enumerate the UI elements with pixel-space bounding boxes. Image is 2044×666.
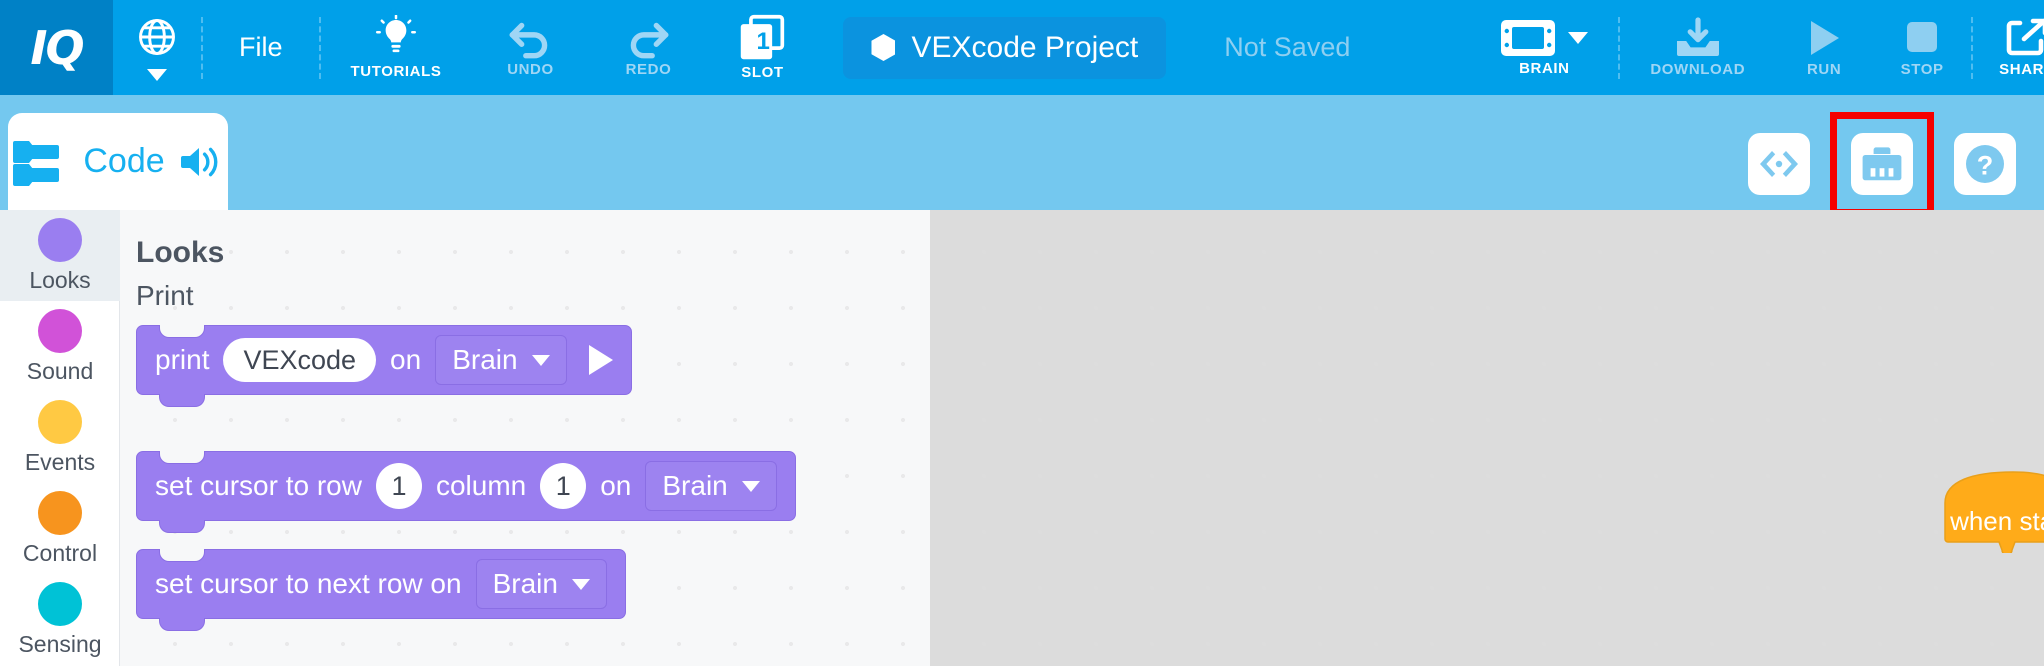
slot-button[interactable]: 1 SLOT [707, 0, 817, 95]
robot-config-button[interactable] [1851, 133, 1913, 195]
dropdown-value: Brain [493, 568, 558, 600]
sidebar-item-looks[interactable]: Looks [0, 210, 120, 301]
workspace-tool-buttons: ? [1748, 112, 2016, 216]
category-sidebar: Looks Sound Events Control Sensing [0, 210, 120, 666]
column-input[interactable]: 1 [540, 463, 586, 509]
speaker-icon[interactable] [179, 143, 223, 181]
stop-label: STOP [1901, 61, 1944, 78]
workspace-grid-background [930, 210, 2044, 666]
set-cursor-row-column-block[interactable]: set cursor to row 1 column 1 on Brain [136, 451, 796, 521]
slot-label: SLOT [741, 64, 783, 81]
redo-button[interactable]: REDO [589, 0, 707, 95]
chevron-down-icon [1568, 32, 1588, 44]
svg-text:?: ? [1977, 150, 1994, 180]
sidebar-item-label: Looks [29, 267, 90, 294]
code-workspace[interactable]: when started [930, 210, 2044, 666]
blocks-palette[interactable]: Looks Print print VEXcode on Brain set c… [121, 210, 921, 666]
print-message-input[interactable]: VEXcode [223, 338, 376, 382]
sidebar-item-control[interactable]: Control [0, 483, 120, 574]
lightbulb-icon [373, 15, 419, 61]
brain-device-icon [1500, 18, 1556, 58]
logo-text: IQ [30, 21, 82, 75]
download-label: DOWNLOAD [1650, 61, 1745, 78]
block-text: on [600, 470, 631, 502]
redo-arrow-icon [623, 17, 673, 59]
vex-iq-logo[interactable]: IQ [0, 0, 113, 95]
download-button[interactable]: DOWNLOAD [1620, 0, 1775, 95]
device-dropdown[interactable]: Brain [435, 335, 566, 385]
toolbox-icon [1862, 145, 1902, 183]
chevron-down-icon [147, 69, 167, 81]
brain-selector-button[interactable]: BRAIN [1470, 0, 1618, 95]
file-menu-label: File [239, 32, 283, 63]
svg-text:1: 1 [757, 28, 770, 55]
run-button[interactable]: RUN [1775, 0, 1873, 95]
download-icon [1673, 17, 1723, 59]
block-text: print [155, 344, 209, 376]
project-name-field[interactable]: VEXcode Project [843, 17, 1166, 79]
sidebar-item-label: Events [25, 449, 95, 476]
hexagon-icon [871, 34, 895, 61]
device-dropdown[interactable]: Brain [645, 461, 776, 511]
category-color-dot [38, 218, 82, 262]
tutorials-button[interactable]: TUTORIALS [321, 0, 472, 95]
category-color-dot [38, 582, 82, 626]
project-name-label: VEXcode Project [911, 31, 1138, 65]
redo-label: REDO [626, 61, 672, 78]
sidebar-item-sound[interactable]: Sound [0, 301, 120, 392]
when-started-label: when started [1950, 506, 2044, 537]
globe-icon [135, 15, 179, 59]
stop-button[interactable]: STOP [1873, 0, 1971, 95]
top-toolbar: IQ File [0, 0, 2044, 95]
set-cursor-next-row-block[interactable]: set cursor to next row on Brain [136, 549, 626, 619]
sidebar-item-events[interactable]: Events [0, 392, 120, 483]
row-input[interactable]: 1 [376, 463, 422, 509]
tab-code[interactable]: Code [8, 113, 228, 210]
sidebar-item-label: Sound [27, 358, 94, 385]
category-color-dot [38, 309, 82, 353]
tab-code-label: Code [83, 142, 164, 181]
stop-square-icon [1899, 17, 1945, 59]
angle-brackets-icon [1758, 148, 1800, 180]
run-label: RUN [1807, 61, 1841, 78]
save-status-label: Not Saved [1224, 32, 1350, 63]
share-label: SHARE [1999, 61, 2044, 78]
save-status: Not Saved [1166, 0, 1350, 95]
share-button[interactable]: SHARE [1973, 0, 2044, 95]
category-color-dot [38, 400, 82, 444]
block-text: set cursor to row [155, 470, 362, 502]
block-text: on [390, 344, 421, 376]
undo-arrow-icon [505, 17, 555, 59]
file-menu-button[interactable]: File [203, 0, 319, 95]
undo-button[interactable]: UNDO [471, 0, 589, 95]
sidebar-item-label: Sensing [18, 631, 101, 658]
palette-category-title: Looks [136, 236, 224, 270]
play-icon [1801, 17, 1847, 59]
category-color-dot [38, 491, 82, 535]
tutorials-label: TUTORIALS [351, 63, 442, 80]
sidebar-item-sensing[interactable]: Sensing [0, 574, 120, 665]
run-block-icon[interactable] [589, 345, 613, 375]
help-button[interactable]: ? [1954, 133, 2016, 195]
sidebar-item-label: Control [23, 540, 97, 567]
brain-label: BRAIN [1519, 60, 1570, 77]
dropdown-value: Brain [452, 344, 517, 376]
robot-config-button-highlight [1830, 112, 1934, 216]
sub-header-bar: Code [0, 95, 2044, 210]
question-mark-icon: ? [1963, 142, 2007, 186]
main-area: Looks Sound Events Control Sensing Looks… [0, 210, 2044, 666]
dropdown-value: Brain [662, 470, 727, 502]
chevron-down-icon [572, 579, 590, 590]
code-view-button[interactable] [1748, 133, 1810, 195]
palette-section-label: Print [136, 280, 194, 312]
block-text: set cursor to next row on [155, 568, 462, 600]
block-text: column [436, 470, 526, 502]
chevron-down-icon [742, 481, 760, 492]
chevron-down-icon [532, 355, 550, 366]
share-export-icon [2004, 17, 2044, 59]
when-started-block[interactable]: when started [1943, 469, 2044, 553]
language-selector[interactable] [113, 0, 201, 95]
slot-icon: 1 [737, 14, 787, 62]
print-block[interactable]: print VEXcode on Brain [136, 325, 632, 395]
device-dropdown[interactable]: Brain [476, 559, 607, 609]
undo-label: UNDO [507, 61, 554, 78]
stacked-blocks-icon [13, 137, 69, 187]
